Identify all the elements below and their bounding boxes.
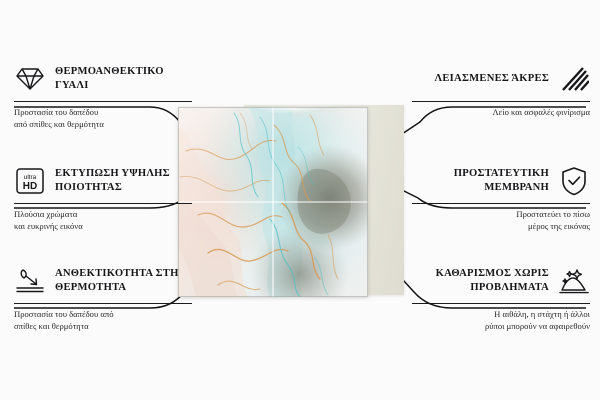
feature-heat-resistant-glass[interactable]: ΘΕΡΜΟΑΝΘΕΚΤΙΚΟ ΓΥΑΛΙ Προστασία του δαπέδ…	[14, 62, 192, 131]
feature-title: ΑΝΘΕΚΤΙΚΟΤΗΤΑ ΣΤΗ ΘΕΡΜΟΤΗΤΑ	[55, 267, 192, 295]
feature-protective-film[interactable]: ΠΡΟΣΤΑΤΕΥΤΙΚΗ ΜΕΜΒΡΑΝΗ Προστατεύει το πί…	[412, 164, 590, 233]
divider	[14, 101, 192, 102]
feature-description: Προστασία του δαπέδου από σπίθες και θερ…	[14, 107, 192, 131]
polished-edges-icon	[558, 64, 590, 94]
feature-title: ΛΕΙΑΣΜΕΝΕΣ ΆΚΡΕΣ	[435, 72, 549, 86]
infographic-canvas: ΘΕΡΜΟΑΝΘΕΚΤΙΚΟ ΓΥΑΛΙ Προστασία του δαπέδ…	[0, 0, 600, 400]
feature-title: ΚΑΘΑΡΙΣΜΟΣ ΧΩΡΙΣ ΠΡΟΒΛΗΜΑΤΑ	[412, 267, 549, 295]
divider	[14, 303, 192, 304]
feature-description: Η αιθάλη, η στάχτη ή άλλοι ρύποι μπορούν…	[412, 309, 590, 333]
feature-header: ΑΝΘΕΚΤΙΚΟΤΗΤΑ ΣΤΗ ΘΕΡΜΟΤΗΤΑ	[14, 264, 192, 298]
glass-panel	[178, 107, 368, 297]
feature-description: Πλούσια χρώματα και ευκρινής εικόνα	[14, 209, 192, 233]
feature-header: ultra HD ΕΚΤΥΠΩΣΗ ΥΨΗΛΗΣ ΠΟΙΟΤΗΤΑΣ	[14, 164, 192, 198]
feature-header: ΠΡΟΣΤΑΤΕΥΤΙΚΗ ΜΕΜΒΡΑΝΗ	[412, 164, 590, 198]
feature-description: Προστασία του δαπέδου από σπίθες και θερ…	[14, 309, 192, 333]
divider	[14, 203, 192, 204]
svg-text:HD: HD	[23, 181, 37, 192]
divider	[412, 101, 590, 102]
feature-title: ΘΕΡΜΟΑΝΘΕΚΤΙΚΟ ΓΥΑΛΙ	[55, 65, 192, 93]
shield-check-icon	[558, 166, 590, 196]
feature-heat-durability[interactable]: ΑΝΘΕΚΤΙΚΟΤΗΤΑ ΣΤΗ ΘΕΡΜΟΤΗΤΑ Προστασία το…	[14, 264, 192, 333]
product-image	[178, 107, 404, 297]
svg-text:ultra: ultra	[24, 174, 37, 181]
feature-header: ΛΕΙΑΣΜΕΝΕΣ ΆΚΡΕΣ	[412, 62, 590, 96]
diamond-icon	[14, 64, 46, 94]
divider	[412, 303, 590, 304]
feature-description: Λείο και ασφαλές φινίρισμα	[412, 107, 590, 119]
feature-description: Προστατεύει το πίσω μέρος της εικόνας	[412, 209, 590, 233]
highlight-glow	[254, 107, 324, 114]
feature-easy-cleaning[interactable]: ΚΑΘΑΡΙΣΜΟΣ ΧΩΡΙΣ ΠΡΟΒΛΗΜΑΤΑ Η αιθάλη, η …	[412, 264, 590, 333]
feature-header: ΘΕΡΜΟΑΝΘΕΚΤΙΚΟ ΓΥΑΛΙ	[14, 62, 192, 96]
feature-header: ΚΑΘΑΡΙΣΜΟΣ ΧΩΡΙΣ ΠΡΟΒΛΗΜΑΤΑ	[412, 264, 590, 298]
feature-title: ΠΡΟΣΤΑΤΕΥΤΙΚΗ ΜΕΜΒΡΑΝΗ	[412, 167, 549, 195]
feature-title: ΕΚΤΥΠΩΣΗ ΥΨΗΛΗΣ ΠΟΙΟΤΗΤΑΣ	[55, 167, 192, 195]
divider	[412, 203, 590, 204]
feature-polished-edges[interactable]: ΛΕΙΑΣΜΕΝΕΣ ΆΚΡΕΣ Λείο και ασφαλές φινίρι…	[412, 62, 590, 119]
ultra-hd-icon: ultra HD	[14, 166, 46, 196]
easy-clean-icon	[558, 266, 590, 296]
marble-artwork	[178, 107, 368, 297]
heat-resistance-icon	[14, 266, 46, 296]
feature-high-quality-print[interactable]: ultra HD ΕΚΤΥΠΩΣΗ ΥΨΗΛΗΣ ΠΟΙΟΤΗΤΑΣ Πλούσ…	[14, 164, 192, 233]
